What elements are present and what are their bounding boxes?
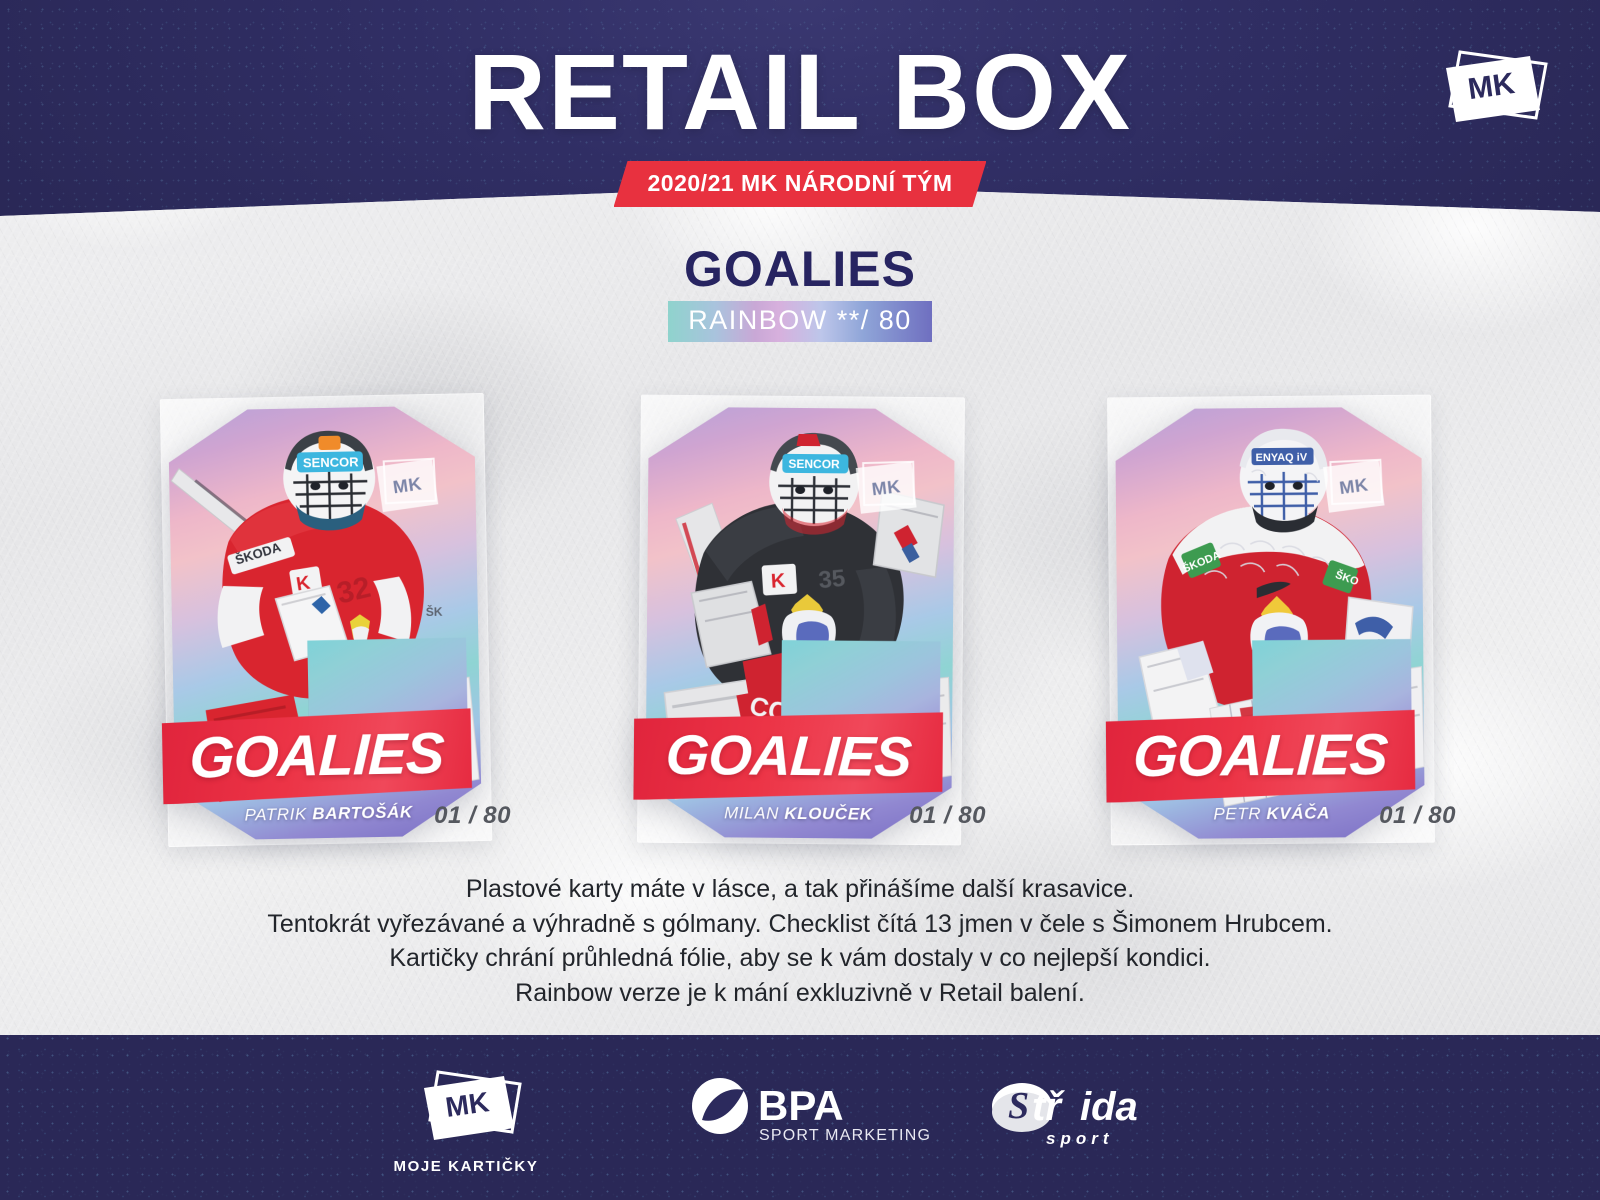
card-mk-tile-text: MK — [1323, 460, 1385, 513]
card-slot-1[interactable]: ŠKODA K 32 — [150, 390, 505, 860]
card-banner-3: GOALIES — [1106, 710, 1416, 803]
card-slot-3[interactable]: ŠKODA ŠKO ZECH — [1095, 390, 1450, 860]
card-banner-text: GOALIES — [664, 722, 913, 789]
strida-wordmark: tř — [1032, 1085, 1065, 1129]
copy-line-3: Kartičky chrání průhledná fólie, aby se … — [0, 941, 1600, 976]
season-badge: 2020/21 MK NÁRODNÍ TÝM — [614, 161, 987, 207]
skoda-side-text: ŠK — [426, 604, 443, 619]
section-subtitle-wrap: RAINBOW **/ 80 — [0, 301, 1600, 342]
trading-card-2[interactable]: K 35 CZECH REPUBLIC — [645, 407, 955, 840]
card-banner-2: GOALIES — [633, 710, 943, 803]
mk-logo-top-right: MK — [1424, 44, 1554, 144]
card-serial-3: 01 / 80 — [1379, 802, 1456, 830]
player-first-name: PATRIK — [244, 804, 312, 824]
svg-text:S: S — [1008, 1085, 1029, 1127]
jersey-number: 35 — [817, 565, 846, 594]
bpa-logo: BPA SPORT MARKETING — [690, 1076, 910, 1146]
mk-logo-text: MK — [1466, 67, 1517, 106]
mk-logo-footer: MK — [404, 1066, 528, 1170]
card-player-name-2: MILAN KLOUČEK — [645, 802, 951, 825]
rainbow-serial-badge: RAINBOW **/ 80 — [668, 301, 932, 342]
card-serial-2: 01 / 80 — [909, 802, 986, 830]
subtitle-badge-wrap: 2020/21 MK NÁRODNÍ TÝM — [0, 161, 1600, 207]
mk-logo-caption: MOJE KARTIČKY — [330, 1158, 602, 1175]
poster-canvas: RETAIL BOX 2020/21 MK NÁRODNÍ TÝM MK GOA… — [0, 0, 1600, 1200]
card-mk-tile-text: MK — [856, 462, 917, 514]
svg-text:ENYAQ iV: ENYAQ iV — [1256, 452, 1308, 464]
strida-sport-logo: S tř ida sport — [988, 1076, 1188, 1150]
svg-text:SENCOR: SENCOR — [303, 454, 360, 470]
player-last-name: BARTOŠÁK — [312, 802, 413, 823]
card-mk-tile-text: MK — [377, 459, 439, 512]
card-mk-tile-1: MK — [377, 459, 439, 512]
section-title: GOALIES — [0, 240, 1600, 298]
copy-line-4: Rainbow verze je k mání exkluzivně v Ret… — [0, 976, 1600, 1011]
svg-text:K: K — [770, 570, 786, 593]
card-serial-1: 01 / 80 — [434, 802, 511, 830]
card-slot-2[interactable]: K 35 CZECH REPUBLIC — [625, 390, 980, 860]
trading-card-3[interactable]: ŠKODA ŠKO ZECH — [1115, 407, 1425, 840]
copy-line-2: Tentokrát vyřezávané a výhradně s gólman… — [0, 907, 1600, 942]
player-last-name: KVÁČA — [1266, 803, 1330, 823]
card-banner-1: GOALIES — [161, 708, 472, 804]
page-title: RETAIL BOX — [0, 38, 1600, 146]
card-banner-text: GOALIES — [189, 719, 445, 791]
card-mk-tile-2: MK — [856, 462, 917, 514]
player-first-name: PETR — [1213, 804, 1266, 823]
mk-logo-text: MK — [444, 1086, 491, 1123]
strida-tagline: sport — [1046, 1129, 1114, 1148]
svg-text:SENCOR: SENCOR — [788, 457, 840, 471]
strida-wordmark-2: ida — [1080, 1085, 1138, 1129]
description-copy: Plastové karty máte v lásce, a tak přiná… — [0, 872, 1600, 1010]
bpa-wordmark: BPA — [758, 1082, 844, 1129]
card-banner-text: GOALIES — [1132, 721, 1389, 790]
bpa-circle-icon — [692, 1078, 748, 1134]
card-mk-tile-3: MK — [1323, 460, 1385, 513]
copy-line-1: Plastové karty máte v lásce, a tak přiná… — [0, 872, 1600, 907]
footer-bar: MK MOJE KARTIČKY BPA SPORT MARKETING S — [0, 1030, 1600, 1200]
player-last-name: KLOUČEK — [784, 803, 872, 823]
card-gallery: ŠKODA K 32 — [0, 390, 1600, 860]
trading-card-1[interactable]: ŠKODA K 32 — [168, 405, 482, 841]
kaufland-patch-shoulder: K — [761, 563, 797, 596]
player-first-name: MILAN — [724, 803, 784, 823]
bpa-tagline: SPORT MARKETING — [759, 1127, 931, 1144]
